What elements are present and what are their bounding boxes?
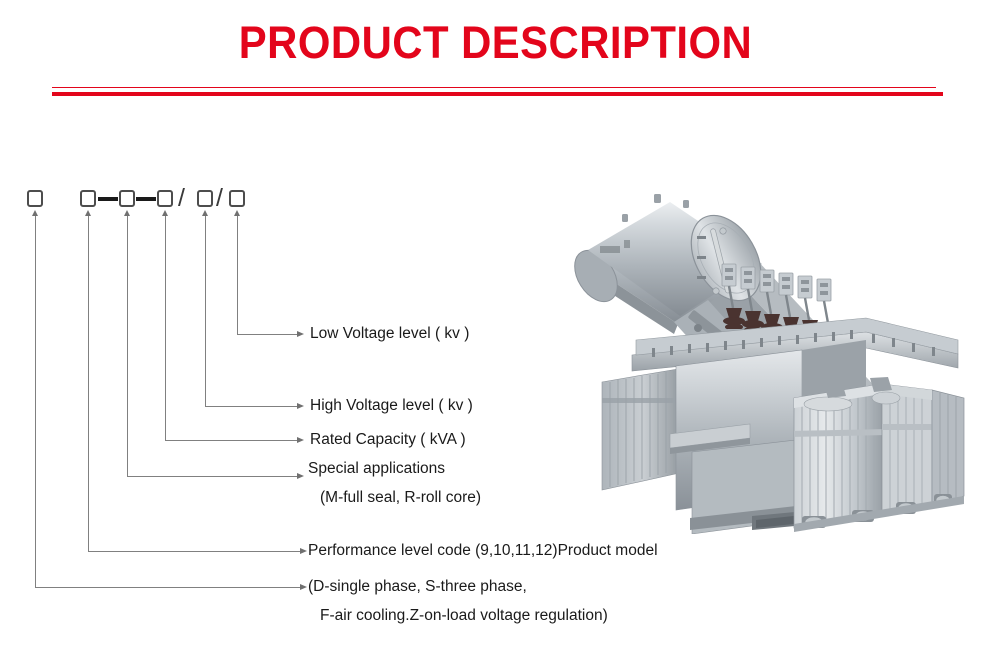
leader-vertical-5 <box>205 216 206 406</box>
label-performance-level-code: Performance level code (9,10,11,12)Produ… <box>308 542 658 560</box>
code-box-1 <box>27 190 43 207</box>
code-separator-dash-1 <box>98 197 118 201</box>
code-box-2 <box>80 190 96 207</box>
code-separator-slash-1: / <box>178 186 185 211</box>
leader-horizontal-1 <box>35 587 300 588</box>
leader-horizontal-3 <box>127 476 297 477</box>
leader-vertical-2 <box>88 216 89 551</box>
label-special-applications: Special applications <box>308 460 445 478</box>
leader-arrow-right-5 <box>297 403 304 409</box>
label-phase-and-cooling-code-detail: F-air cooling.Z-on-load voltage regulati… <box>320 607 608 625</box>
leader-vertical-6 <box>237 216 238 334</box>
code-box-3 <box>119 190 135 207</box>
leader-arrow-right-6 <box>297 331 304 337</box>
code-box-4 <box>157 190 173 207</box>
code-separator-slash-2: / <box>216 186 223 211</box>
leader-horizontal-5 <box>205 406 297 407</box>
label-high-voltage-level: High Voltage level ( kv ) <box>310 397 473 415</box>
radiator-panels-front <box>794 377 964 532</box>
leader-arrow-right-4 <box>297 437 304 443</box>
leader-vertical-4 <box>165 216 166 440</box>
leader-vertical-1 <box>35 216 36 587</box>
leader-arrow-right-1 <box>300 584 307 590</box>
label-special-applications-detail: (M-full seal, R-roll core) <box>320 489 481 507</box>
code-box-6 <box>229 190 245 207</box>
code-breakdown-diagram: / / Low Voltage level ( kv ) High Voltag… <box>0 0 560 664</box>
leader-arrow-right-3 <box>297 473 304 479</box>
leader-horizontal-4 <box>165 440 297 441</box>
label-phase-and-cooling-code: (D-single phase, S-three phase, <box>308 578 527 596</box>
leader-horizontal-2 <box>88 551 300 552</box>
label-low-voltage-level: Low Voltage level ( kv ) <box>310 325 469 343</box>
leader-arrow-right-2 <box>300 548 307 554</box>
code-separator-dash-2 <box>136 197 156 201</box>
leader-horizontal-6 <box>237 334 297 335</box>
leader-vertical-3 <box>127 216 128 476</box>
oil-immersed-power-transformer-image <box>566 172 966 534</box>
label-rated-capacity: Rated Capacity ( kVA ) <box>310 431 466 449</box>
code-box-5 <box>197 190 213 207</box>
